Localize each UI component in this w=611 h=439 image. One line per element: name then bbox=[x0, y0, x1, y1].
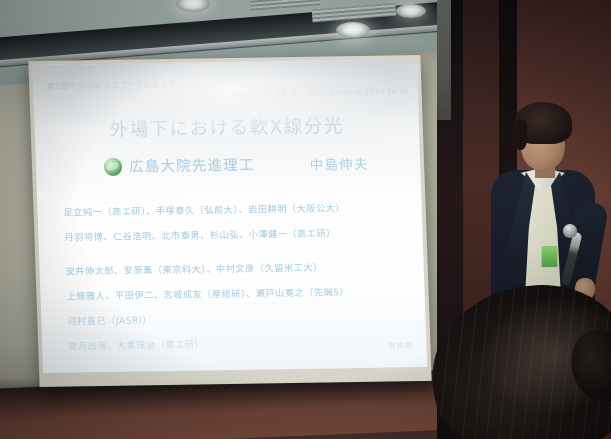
projection-screen-frame: 第2回HiSOR@ ミニワークショップ 広島大学学士会館 2F レセプションホー… bbox=[28, 55, 431, 387]
photo-scene: 第2回HiSOR@ ミニワークショップ 広島大学学士会館 2F レセプションホー… bbox=[0, 0, 611, 439]
downlight-icon bbox=[336, 22, 370, 38]
affiliation-row: 広島大院先進理工 中島伸夫 bbox=[104, 151, 401, 177]
name-badge bbox=[541, 246, 558, 268]
presenter-hair-side bbox=[511, 120, 527, 150]
slide-title: 外場下における軟X線分光 bbox=[34, 111, 419, 143]
globe-icon bbox=[104, 157, 123, 175]
speaker-name-label: 中島伸夫 bbox=[309, 152, 369, 173]
slide-header-left: 第2回HiSOR@ ミニワークショップ bbox=[47, 79, 176, 92]
room-left-wall: 第2回HiSOR@ ミニワークショップ 広島大学学士会館 2F レセプションホー… bbox=[0, 0, 437, 439]
honorific-note: 敬称略 bbox=[388, 340, 412, 351]
author-row: 石松直樹（愛媛大）、藤森慧太（東大） bbox=[69, 367, 414, 373]
author-row: 足立純一（高エ研）、手塚泰久（弘前大）、岩田耕明（大阪公大） bbox=[63, 199, 408, 218]
slide-content: 第2回HiSOR@ ミニワークショップ 広島大学学士会館 2F レセプションホー… bbox=[32, 59, 427, 373]
author-row: 河村直己（JASRI） bbox=[67, 308, 412, 327]
downlight-icon bbox=[396, 4, 426, 18]
author-row: 安井伸太郎、安原薫（東京科大）、中村文彦（久留米工大） bbox=[65, 258, 410, 277]
projection-screen: 第2回HiSOR@ ミニワークショップ 広島大学学士会館 2F レセプションホー… bbox=[32, 59, 427, 373]
author-row: 丹羽将博、仁谷浩明、北市泰男、杉山弘、小澤健一（高エ研） bbox=[64, 224, 409, 243]
slide-header-right: 広島大学学士会館 2F レセプションホール 13:50-14:30 bbox=[233, 85, 408, 98]
affiliation-label: 広島大院先進理工 bbox=[129, 154, 255, 177]
author-row: 望月出海、大東琢治（高エ研） bbox=[68, 333, 413, 352]
wall-light bbox=[437, 0, 451, 120]
author-row: 上條雅人、平田伊二、志岐成友（産総研）、瀬戸山寛之（先端S） bbox=[66, 283, 411, 302]
author-list: 足立純一（高エ研）、手塚泰久（弘前大）、岩田耕明（大阪公大） 丹羽将博、仁谷浩明… bbox=[63, 199, 414, 373]
